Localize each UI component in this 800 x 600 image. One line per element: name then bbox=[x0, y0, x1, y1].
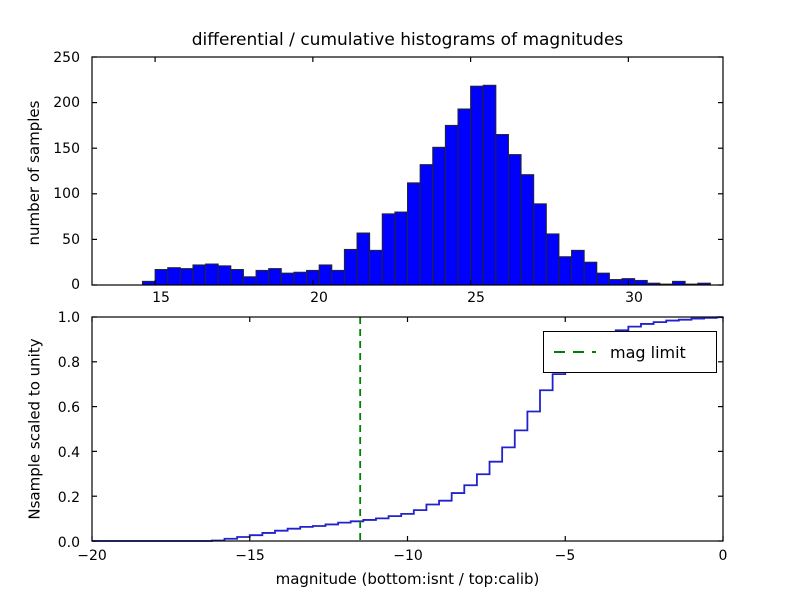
histogram-bar bbox=[370, 250, 383, 285]
histogram-bar bbox=[294, 272, 307, 285]
histogram-bar bbox=[395, 212, 408, 285]
histogram-bar bbox=[546, 234, 559, 285]
histogram-bar bbox=[180, 269, 193, 285]
top-ytick-50: 50 bbox=[28, 232, 80, 248]
top-xtick-20: 20 bbox=[299, 290, 339, 306]
histogram-bar bbox=[584, 262, 597, 285]
mag-limit-line-icon bbox=[554, 351, 596, 353]
histogram-bar bbox=[206, 264, 219, 285]
histogram-bar bbox=[408, 183, 421, 285]
bottom-panel-ylabel: Nsample scaled to unity bbox=[26, 312, 44, 547]
histogram-bar bbox=[597, 273, 610, 285]
histogram-bar bbox=[458, 109, 471, 285]
top-xtick-15: 15 bbox=[141, 290, 181, 306]
histogram-bar bbox=[382, 214, 395, 285]
histogram-bar bbox=[496, 135, 509, 285]
histogram-bar bbox=[357, 233, 370, 285]
bottom-panel-plot-area bbox=[0, 0, 800, 600]
bottom-xtick--15: −15 bbox=[228, 548, 272, 564]
histogram-bar bbox=[673, 281, 686, 285]
bottom-ytick-1.0: 1.0 bbox=[22, 310, 80, 326]
top-ytick-0: 0 bbox=[28, 277, 80, 293]
bottom-xtick-0: 0 bbox=[701, 548, 745, 564]
xaxis-label: magnitude (bottom:isnt / top:calib) bbox=[92, 570, 723, 588]
histogram-bar bbox=[521, 175, 534, 285]
legend[interactable]: mag limit bbox=[543, 331, 717, 373]
bottom-xtick--5: −5 bbox=[543, 548, 587, 564]
histogram-bar bbox=[647, 283, 660, 285]
histogram-bar bbox=[559, 257, 572, 285]
histogram-bar bbox=[155, 269, 168, 285]
histogram-bar bbox=[269, 269, 282, 285]
legend-label-mag-limit: mag limit bbox=[610, 343, 686, 362]
histogram-bar bbox=[319, 265, 332, 285]
top-panel-plot-area bbox=[0, 0, 800, 600]
histogram-bar bbox=[609, 280, 622, 285]
histogram-bar bbox=[685, 284, 698, 285]
histogram-bar bbox=[168, 268, 181, 285]
histogram-bar bbox=[256, 270, 269, 285]
histogram-bars bbox=[142, 85, 710, 285]
bottom-ytick-0.2: 0.2 bbox=[22, 490, 80, 506]
figure-canvas: differential / cumulative histograms of … bbox=[0, 0, 800, 600]
histogram-bar bbox=[281, 273, 294, 285]
top-xtick-25: 25 bbox=[456, 290, 496, 306]
histogram-bar bbox=[243, 277, 256, 285]
histogram-bar bbox=[508, 155, 521, 285]
bottom-ytick-0.8: 0.8 bbox=[22, 355, 80, 371]
bottom-ytick-0.4: 0.4 bbox=[22, 445, 80, 461]
histogram-bar bbox=[142, 281, 155, 285]
histogram-bar bbox=[572, 250, 585, 285]
histogram-bar bbox=[433, 147, 446, 285]
top-ytick-100: 100 bbox=[28, 186, 80, 202]
top-ytick-250: 250 bbox=[28, 50, 80, 66]
bottom-xtick--10: −10 bbox=[386, 548, 430, 564]
top-xtick-30: 30 bbox=[614, 290, 654, 306]
histogram-bar bbox=[193, 265, 206, 285]
histogram-bar bbox=[332, 270, 345, 285]
histogram-bar bbox=[534, 204, 547, 285]
histogram-bar bbox=[218, 266, 231, 285]
histogram-bar bbox=[344, 249, 357, 285]
histogram-bar bbox=[698, 283, 711, 285]
histogram-bar bbox=[622, 279, 635, 285]
top-axes-frame bbox=[92, 57, 723, 285]
histogram-bar bbox=[471, 86, 484, 285]
page-title: differential / cumulative histograms of … bbox=[92, 30, 723, 50]
histogram-bar bbox=[307, 270, 320, 285]
histogram-bar bbox=[483, 85, 496, 285]
top-ytick-200: 200 bbox=[28, 95, 80, 111]
bottom-xtick--20: −20 bbox=[70, 548, 114, 564]
histogram-bar bbox=[445, 125, 458, 285]
top-ytick-150: 150 bbox=[28, 141, 80, 157]
histogram-bar bbox=[231, 269, 244, 285]
histogram-bar bbox=[660, 284, 673, 285]
bottom-ytick-0.6: 0.6 bbox=[22, 400, 80, 416]
histogram-bar bbox=[635, 280, 648, 285]
histogram-bar bbox=[420, 165, 433, 285]
